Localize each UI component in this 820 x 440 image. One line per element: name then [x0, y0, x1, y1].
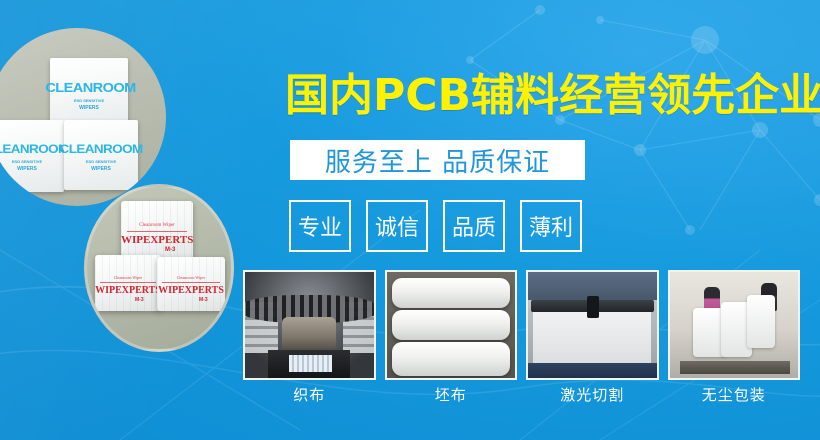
pack-topline: Cleanroom Wiper	[157, 275, 225, 280]
pack-rule	[127, 231, 187, 232]
knitted-cloth	[289, 355, 333, 372]
process-caption-weaving: 织布	[243, 384, 376, 405]
process-photo-weaving	[243, 270, 376, 380]
pack-mark: M-3	[165, 247, 175, 253]
wipe-stack	[747, 295, 775, 348]
pack-brand-label: WIPEXPERTS	[157, 285, 225, 296]
keyword-tag-list: 专业 诚信 品质 薄利	[289, 200, 582, 252]
machine-frame-bottom	[528, 363, 657, 378]
cleanroom-pack: CLEANROOM ESD SENSITIVE WIPERS	[0, 120, 64, 192]
fabric-roll	[392, 342, 510, 376]
keyword-tag-2: 诚信	[366, 200, 428, 252]
pack-mark: M-3	[135, 297, 144, 303]
pack-topline: Cleanroom Wiper	[95, 275, 161, 280]
subheadline-box: 服务至上 品质保证	[290, 140, 585, 180]
process-caption-cleanroom-packing: 无尘包装	[668, 384, 801, 405]
laser-head	[587, 296, 599, 318]
pack-mark: M-3	[199, 297, 208, 303]
pack-subline-1: ESD SENSITIVE	[50, 98, 128, 103]
pack-texture	[121, 201, 193, 263]
pack-brand-label: WIPEXPERTS	[95, 285, 161, 296]
process-caption-greige-fabric: 坯布	[385, 384, 518, 405]
process-caption-list: 织布 坯布 激光切割 无尘包装	[243, 384, 800, 405]
keyword-tag-4: 薄利	[520, 200, 582, 252]
promo-banner: CLEANROOM ESD SENSITIVE WIPERS CLEANROOM…	[0, 0, 820, 440]
laser-cutter-image	[528, 272, 657, 378]
process-photo-cleanroom-packing	[668, 270, 801, 380]
machine-hub	[282, 317, 336, 351]
pack-brand-label: CLEANROOM	[45, 80, 132, 95]
fabric-rolls-image	[387, 272, 516, 378]
pack-subline-2: WIPERS	[50, 105, 128, 111]
pack-subline-1: ESD SENSITIVE	[0, 159, 64, 164]
wipexperts-pack: Cleanroom Wiper WIPEXPERTS M-3	[121, 201, 193, 263]
pack-brand-label: CLEANROOM	[60, 142, 143, 156]
keyword-tag-3: 品质	[443, 200, 505, 252]
fabric-roll	[392, 278, 510, 308]
keyword-tag-1: 专业	[289, 200, 351, 252]
pack-subline-2: WIPERS	[0, 166, 64, 172]
process-photo-greige-fabric	[385, 270, 518, 380]
cleanroom-pack: CLEANROOM ESD SENSITIVE WIPERS	[64, 120, 138, 190]
pack-texture	[157, 257, 225, 311]
pack-texture	[95, 255, 161, 311]
pack-rule	[162, 282, 220, 283]
pack-brand-label: CLEANROOM	[0, 142, 68, 156]
fabric-roll	[392, 310, 510, 340]
process-photo-strip	[243, 270, 800, 380]
packing-table	[680, 361, 791, 374]
pack-rule	[100, 282, 156, 283]
knitting-machine-image	[245, 272, 374, 378]
process-caption-laser-cutting: 激光切割	[526, 384, 659, 405]
packing-room-image	[670, 272, 799, 378]
page-title: 国内PCB辅料经营领先企业	[285, 74, 820, 118]
wipexperts-pack: Cleanroom Wiper WIPEXPERTS M-3	[95, 255, 161, 311]
process-photo-laser-cutting	[526, 270, 659, 380]
subheadline-text: 服务至上 品质保证	[325, 142, 550, 179]
pack-topline: Cleanroom Wiper	[121, 223, 193, 228]
pack-brand-label: WIPEXPERTS	[121, 234, 193, 246]
pack-subline-2: WIPERS	[64, 166, 138, 172]
product-photo-wipexperts: Cleanroom Wiper WIPEXPERTS M-3 Cleanroom…	[84, 184, 234, 352]
pack-subline-1: ESD SENSITIVE	[64, 159, 138, 164]
wipexperts-pack: Cleanroom Wiper WIPEXPERTS M-3	[157, 257, 225, 311]
